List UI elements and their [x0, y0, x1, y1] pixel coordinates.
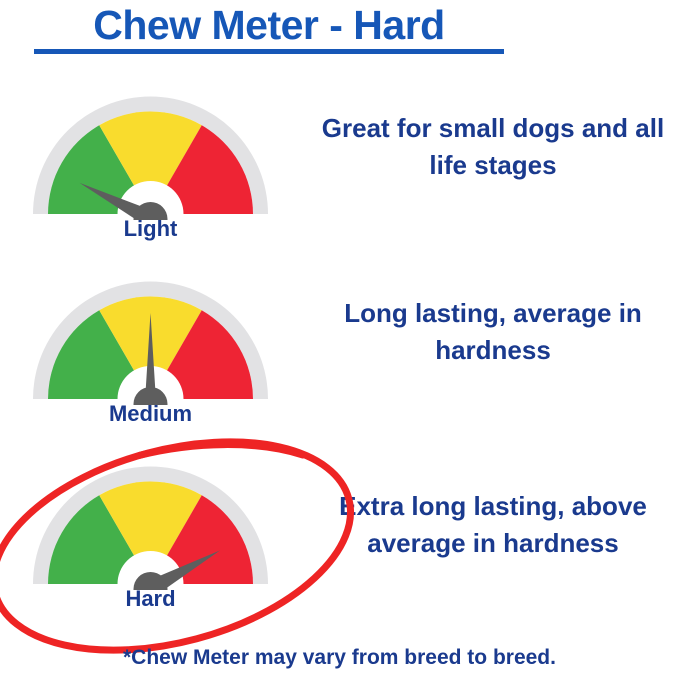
- gauge-label-medium: Medium: [28, 401, 273, 427]
- gauge-light-svg: [28, 88, 273, 220]
- title-underline: [34, 49, 504, 54]
- meter-description-light: Great for small dogs and all life stages: [312, 110, 674, 184]
- page-title-block: Chew Meter - Hard: [34, 2, 504, 54]
- gauge-medium-svg: [28, 273, 273, 405]
- meter-description-medium: Long lasting, average in hardness: [312, 295, 674, 369]
- gauge-light: Light: [28, 88, 273, 253]
- gauge-medium: Medium: [28, 273, 273, 438]
- gauge-hard-svg: [28, 458, 273, 590]
- gauge-hard: Hard: [28, 458, 273, 623]
- page-title: Chew Meter - Hard: [34, 2, 504, 48]
- footnote-text: *Chew Meter may vary from breed to breed…: [0, 646, 679, 670]
- gauge-label-light: Light: [28, 216, 273, 242]
- meter-description-hard: Extra long lasting, above average in har…: [312, 488, 674, 562]
- gauge-label-hard: Hard: [28, 586, 273, 612]
